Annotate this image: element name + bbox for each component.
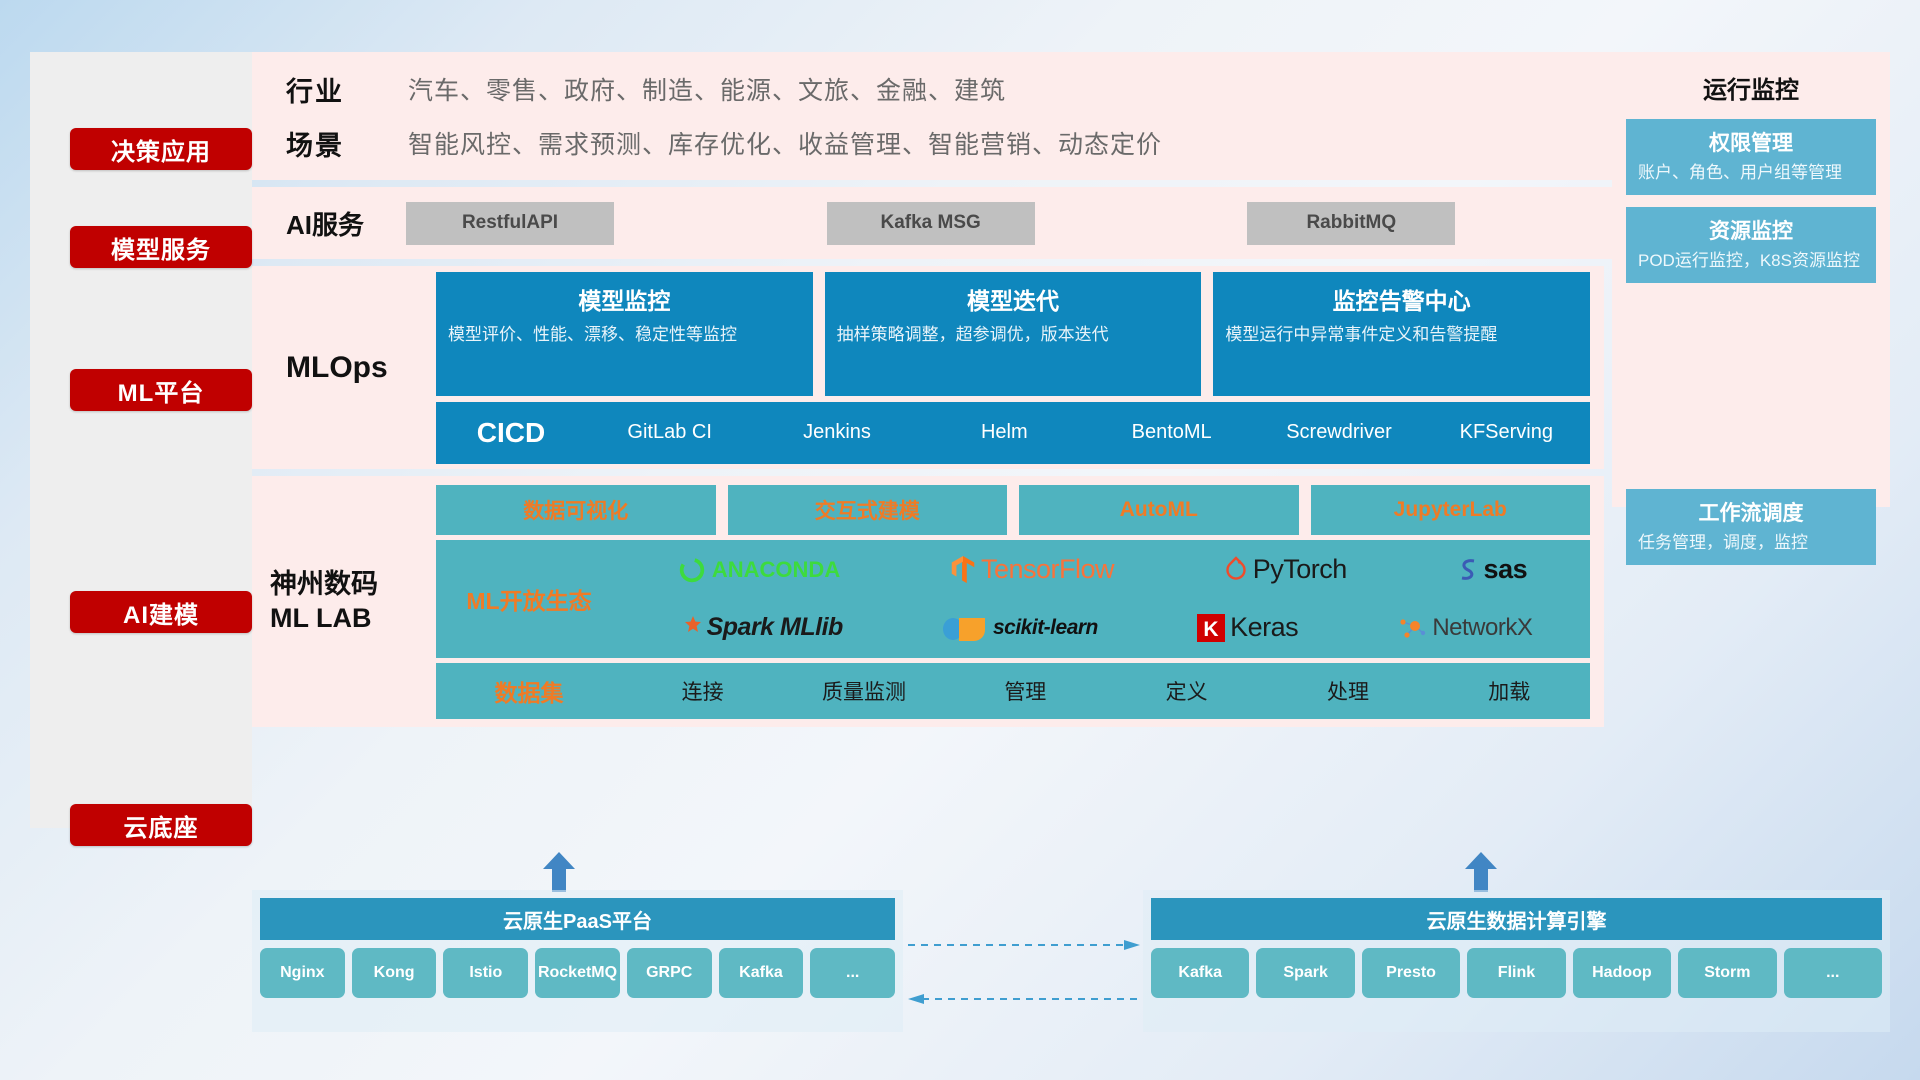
mlops-card-model-iteration[interactable]: 模型迭代 抽样策略调整，超参调优，版本迭代 — [825, 272, 1202, 396]
dataset-item-load[interactable]: 加载 — [1429, 676, 1590, 706]
scikit-learn-logo: scikit-learn — [942, 613, 1098, 643]
ml-lab-band: 神州数码 ML LAB 数据可视化 交互式建模 AutoML JupyterLa… — [252, 476, 1604, 727]
cicd-item-screwdriver[interactable]: Screwdriver — [1255, 421, 1422, 444]
ai-service-label: AI服务 — [286, 205, 406, 242]
mlops-card-title: 模型监控 — [448, 282, 801, 316]
monitoring-column: 运行监控 权限管理 账户、角色、用户组等管理 资源监控 POD运行监控，K8S资… — [1612, 52, 1890, 507]
compute-engine-panel: 云原生数据计算引擎 Kafka Spark Presto Flink Hadoo… — [1143, 890, 1890, 1032]
compute-engine-title: 云原生数据计算引擎 — [1151, 898, 1882, 940]
compute-chip-presto[interactable]: Presto — [1362, 948, 1460, 998]
monitor-card-desc: POD运行监控，K8S资源监控 — [1638, 250, 1864, 273]
keras-logo-text: Keras — [1230, 612, 1298, 643]
mlops-card-title: 监控告警中心 — [1225, 282, 1578, 316]
mlops-card-desc: 模型运行中异常事件定义和告警提醒 — [1225, 324, 1578, 347]
lab-tool-data-visualization[interactable]: 数据可视化 — [436, 485, 716, 535]
cicd-bar: CICD GitLab CI Jenkins Helm BentoML Scre… — [436, 402, 1590, 464]
paas-chip-kafka[interactable]: Kafka — [719, 948, 804, 998]
compute-chip-storm[interactable]: Storm — [1678, 948, 1776, 998]
arrow-up-paas-icon — [542, 852, 576, 892]
mlops-label: MLOps — [286, 351, 436, 385]
monitor-card-desc: 任务管理，调度，监控 — [1638, 532, 1864, 555]
cicd-item-helm[interactable]: Helm — [921, 421, 1088, 444]
monitor-card-resource[interactable]: 资源监控 POD运行监控，K8S资源监控 — [1626, 207, 1876, 283]
cicd-item-bentoml[interactable]: BentoML — [1088, 421, 1255, 444]
monitor-card-workflow[interactable]: 工作流调度 任务管理，调度，监控 — [1626, 489, 1876, 565]
dataset-item-manage[interactable]: 管理 — [945, 676, 1106, 706]
networkx-logo: NetworkX — [1397, 614, 1532, 642]
ml-ecosystem-row: ML开放生态 ANACONDA — [436, 540, 1590, 658]
dataset-item-connect[interactable]: 连接 — [622, 676, 783, 706]
mlops-band: MLOps 模型监控 模型评价、性能、漂移、稳定性等监控 模型迭代 抽样策略调整… — [252, 266, 1604, 469]
rail-badge-decision[interactable]: 决策应用 — [70, 128, 252, 170]
paas-chip-kong[interactable]: Kong — [352, 948, 437, 998]
ml-lab-label-line1: 神州数码 — [270, 568, 436, 602]
paas-chip-nginx[interactable]: Nginx — [260, 948, 345, 998]
paas-chip-list: Nginx Kong Istio RocketMQ GRPC Kafka ... — [252, 940, 903, 1006]
compute-chip-kafka[interactable]: Kafka — [1151, 948, 1249, 998]
arrow-up-compute-icon — [1464, 852, 1498, 892]
dataset-item-quality[interactable]: 质量监测 — [783, 676, 944, 706]
scenario-values: 智能风控、需求预测、库存优化、收益管理、智能营销、动态定价 — [408, 125, 1162, 161]
mlops-card-title: 模型迭代 — [837, 282, 1190, 316]
cloud-foundation-section: 云原生PaaS平台 Nginx Kong Istio RocketMQ GRPC… — [252, 880, 1890, 1035]
monitor-card-title: 资源监控 — [1638, 215, 1864, 245]
lab-tool-interactive-modeling[interactable]: 交互式建模 — [728, 485, 1008, 535]
sas-logo-text: sas — [1484, 554, 1528, 585]
monitor-card-permission[interactable]: 权限管理 账户、角色、用户组等管理 — [1626, 119, 1876, 195]
scikit-learn-logo-text: scikit-learn — [993, 616, 1098, 640]
monitor-card-title: 权限管理 — [1638, 127, 1864, 157]
mlops-card-desc: 抽样策略调整，超参调优，版本迭代 — [837, 324, 1190, 347]
tensorflow-logo-text: TensorFlow — [981, 554, 1114, 585]
rail-badge-cloud-base[interactable]: 云底座 — [70, 804, 252, 846]
paas-chip-istio[interactable]: Istio — [443, 948, 528, 998]
tensorflow-logo: TensorFlow — [950, 554, 1114, 585]
industry-label: 行业 — [286, 70, 408, 109]
sas-logo: sas — [1457, 554, 1528, 585]
pytorch-logo-text: PyTorch — [1253, 554, 1347, 585]
monitor-card-desc: 账户、角色、用户组等管理 — [1638, 162, 1864, 185]
anaconda-logo-text: ANACONDA — [712, 557, 840, 583]
ml-lab-label: 神州数码 ML LAB — [270, 568, 436, 636]
keras-logo: K Keras — [1197, 612, 1298, 643]
rail-badge-model-service[interactable]: 模型服务 — [70, 226, 252, 268]
service-button-restfulapi[interactable]: RestfulAPI — [406, 202, 614, 245]
mlops-card-model-monitor[interactable]: 模型监控 模型评价、性能、漂移、稳定性等监控 — [436, 272, 813, 396]
ml-lab-label-line2: ML LAB — [270, 602, 436, 636]
cicd-item-jenkins[interactable]: Jenkins — [753, 421, 920, 444]
dataset-item-define[interactable]: 定义 — [1106, 676, 1267, 706]
anaconda-logo: ANACONDA — [677, 555, 840, 585]
dataset-label: 数据集 — [436, 674, 622, 708]
rail-badge-ml-platform[interactable]: ML平台 — [70, 369, 252, 411]
spark-mllib-logo-text: Spark MLlib — [707, 613, 843, 642]
rail-badge-ai-modeling[interactable]: AI建模 — [70, 591, 252, 633]
arrow-right-dashed-icon — [908, 938, 1140, 956]
paas-platform-title: 云原生PaaS平台 — [260, 898, 895, 940]
spark-mllib-logo: Spark MLlib — [672, 613, 843, 642]
service-button-rabbitmq[interactable]: RabbitMQ — [1247, 202, 1455, 245]
compute-chip-more[interactable]: ... — [1784, 948, 1882, 998]
lab-tool-jupyterlab[interactable]: JupyterLab — [1311, 485, 1591, 535]
compute-chip-flink[interactable]: Flink — [1467, 948, 1565, 998]
paas-chip-grpc[interactable]: GRPC — [627, 948, 712, 998]
cicd-item-kfserving[interactable]: KFServing — [1423, 421, 1590, 444]
compute-chip-hadoop[interactable]: Hadoop — [1573, 948, 1671, 998]
service-button-kafka-msg[interactable]: Kafka MSG — [827, 202, 1035, 245]
lab-tool-automl[interactable]: AutoML — [1019, 485, 1299, 535]
paas-chip-more[interactable]: ... — [810, 948, 895, 998]
mlops-section: MLOps 模型监控 模型评价、性能、漂移、稳定性等监控 模型迭代 抽样策略调整… — [252, 266, 1890, 469]
ml-ecosystem-label: ML开放生态 — [436, 582, 622, 616]
cicd-item-gitlab-ci[interactable]: GitLab CI — [586, 421, 753, 444]
paas-chip-rocketmq[interactable]: RocketMQ — [535, 948, 620, 998]
pytorch-logo: PyTorch — [1224, 554, 1347, 585]
svg-text:K: K — [1203, 618, 1218, 641]
cicd-title: CICD — [436, 417, 586, 449]
stage-rail: 决策应用 模型服务 ML平台 AI建模 云底座 — [30, 52, 252, 828]
arrow-left-dashed-icon — [908, 992, 1140, 1010]
scenario-label: 场景 — [286, 124, 408, 163]
compute-chip-list: Kafka Spark Presto Flink Hadoop Storm ..… — [1143, 940, 1890, 1006]
dataset-row: 数据集 连接 质量监测 管理 定义 处理 加载 — [436, 663, 1590, 719]
monitoring-title: 运行监控 — [1626, 70, 1876, 105]
monitor-card-title: 工作流调度 — [1638, 497, 1864, 527]
industry-values: 汽车、零售、政府、制造、能源、文旅、金融、建筑 — [408, 71, 1006, 107]
networkx-logo-text: NetworkX — [1432, 614, 1532, 642]
mlops-card-desc: 模型评价、性能、漂移、稳定性等监控 — [448, 324, 801, 347]
dataset-item-process[interactable]: 处理 — [1267, 676, 1428, 706]
compute-chip-spark[interactable]: Spark — [1256, 948, 1354, 998]
mlops-card-alert-center[interactable]: 监控告警中心 模型运行中异常事件定义和告警提醒 — [1213, 272, 1590, 396]
paas-platform-panel: 云原生PaaS平台 Nginx Kong Istio RocketMQ GRPC… — [252, 890, 903, 1032]
